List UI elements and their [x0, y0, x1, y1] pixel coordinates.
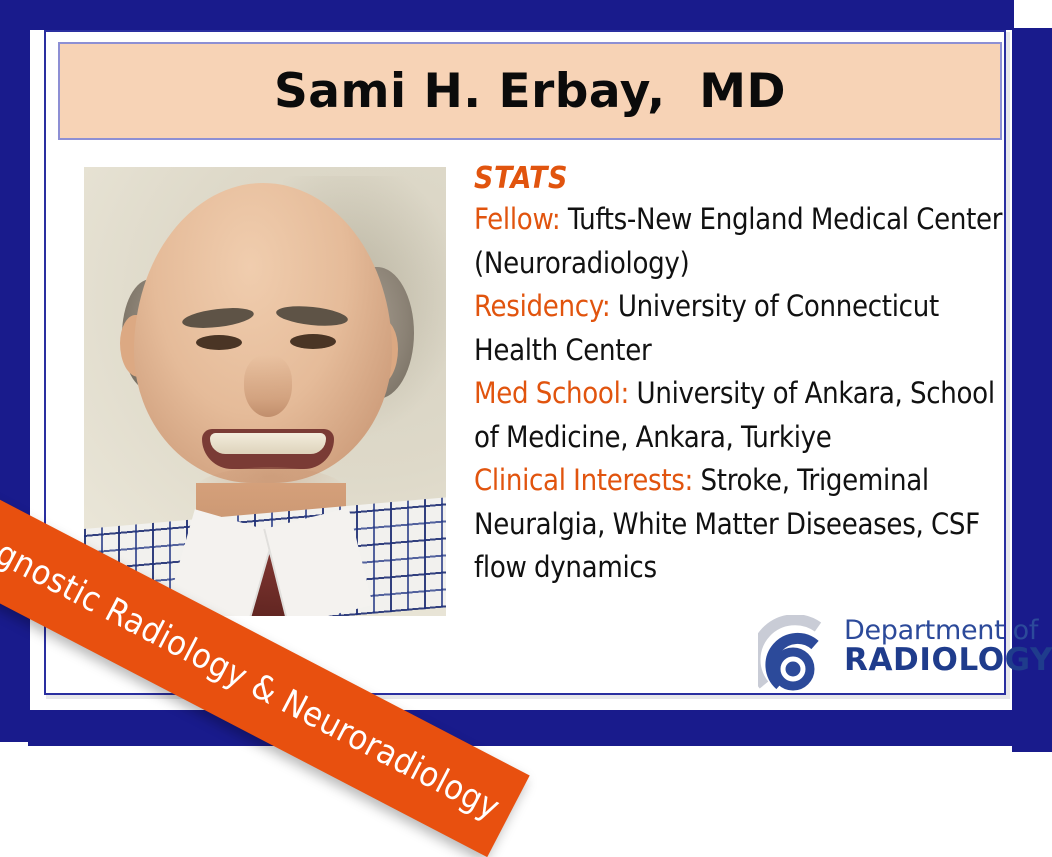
stats-block: STATS Fellow: Tufts-New England Medical …: [474, 160, 1004, 590]
title-box: Sami H. Erbay, MD: [58, 42, 1002, 140]
stat-label-residency: Residency:: [474, 289, 610, 323]
portrait-photo: [84, 167, 446, 616]
page-title: Sami H. Erbay, MD: [274, 64, 786, 119]
stats-heading: STATS: [474, 160, 1004, 198]
stat-row-med-school: Med School: University of Ankara, School…: [474, 372, 1004, 459]
logo-wordmark: Department of RADIOLOGY: [844, 617, 1052, 677]
stat-label-clinical-interests: Clinical Interests:: [474, 463, 693, 497]
portrait-nose: [244, 355, 292, 417]
stat-row-clinical-interests: Clinical Interests: Stroke, Trigeminal N…: [474, 459, 1004, 590]
frame-border-left: [0, 0, 30, 742]
frame-border-bottom: [28, 710, 1052, 746]
stat-row-residency: Residency: University of Connecticut Hea…: [474, 285, 1004, 372]
logo-line-radiology: RADIOLOGY: [844, 644, 1052, 677]
logo-line-department: Department of: [844, 617, 1052, 644]
radiology-signal-icon: [758, 615, 842, 693]
stat-label-med-school: Med School:: [474, 376, 629, 410]
department-of-radiology-logo: Department of RADIOLOGY: [758, 613, 1004, 695]
stat-row-fellow: Fellow: Tufts-New England Medical Center…: [474, 198, 1004, 285]
card-frame: Sami H. Erbay, MD STATS Fellow: Tufts-Ne…: [0, 0, 1052, 752]
stat-label-fellow: Fellow:: [474, 202, 560, 236]
frame-border-top: [0, 0, 1014, 30]
portrait-teeth: [210, 433, 326, 454]
portrait-eye-left: [196, 335, 242, 350]
portrait-eye-right: [290, 334, 336, 349]
